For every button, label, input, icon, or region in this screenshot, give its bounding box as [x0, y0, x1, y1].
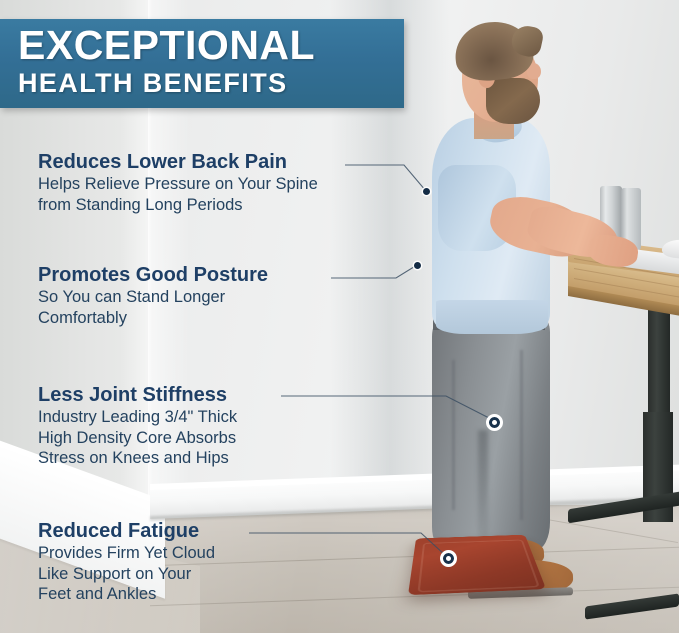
benefit-block-1: Reduces Lower Back Pain Helps Relieve Pr…: [38, 150, 318, 215]
benefit-line: Industry Leading 3/4" Thick: [38, 407, 237, 428]
benefit-heading: Reduced Fatigue: [38, 519, 215, 543]
trouser-crease: [520, 350, 523, 520]
callout-marker-1: [423, 188, 430, 195]
callout-marker-3: [486, 414, 503, 431]
benefit-block-3: Less Joint Stiffness Industry Leading 3/…: [38, 383, 237, 469]
callout-marker-4: [440, 550, 457, 567]
benefit-line: from Standing Long Periods: [38, 195, 318, 216]
mat-bevel-edge: [417, 540, 539, 593]
shirt-hem: [436, 300, 548, 334]
banner-title-secondary: HEALTH BENEFITS: [18, 68, 396, 98]
beard: [486, 78, 540, 124]
benefit-line: Stress on Knees and Hips: [38, 448, 237, 469]
title-banner: EXCEPTIONAL HEALTH BENEFITS: [0, 19, 404, 108]
infographic-canvas: EXCEPTIONAL HEALTH BENEFITS Reduces Lowe…: [0, 0, 679, 633]
banner-title-primary: EXCEPTIONAL: [18, 22, 396, 68]
callout-marker-2: [414, 262, 421, 269]
benefit-block-2: Promotes Good Posture So You can Stand L…: [38, 263, 268, 328]
trouser-crease: [452, 360, 455, 510]
benefit-line: Comfortably: [38, 308, 268, 329]
benefit-line: Feet and Ankles: [38, 584, 215, 605]
benefit-line: Like Support on Your: [38, 564, 215, 585]
benefit-line: High Density Core Absorbs: [38, 428, 237, 449]
benefit-heading: Less Joint Stiffness: [38, 383, 237, 407]
trousers: [432, 318, 550, 550]
benefit-heading: Reduces Lower Back Pain: [38, 150, 318, 174]
trouser-leg-gap: [478, 430, 488, 548]
benefit-line: Helps Relieve Pressure on Your Spine: [38, 174, 318, 195]
benefit-block-4: Reduced Fatigue Provides Firm Yet Cloud …: [38, 519, 215, 605]
benefit-line: So You can Stand Longer: [38, 287, 268, 308]
benefit-heading: Promotes Good Posture: [38, 263, 268, 287]
benefit-line: Provides Firm Yet Cloud: [38, 543, 215, 564]
hand: [586, 233, 640, 270]
